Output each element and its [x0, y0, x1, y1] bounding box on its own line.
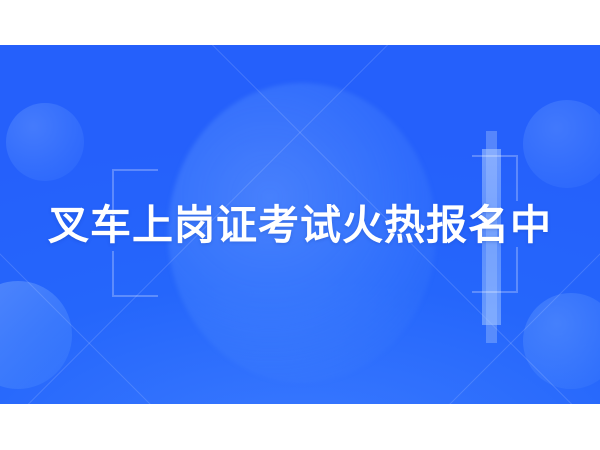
headline-container: 叉车上岗证考试火热报名中: [0, 45, 600, 404]
banner-page: 叉车上岗证考试火热报名中: [0, 0, 600, 450]
banner-headline: 叉车上岗证考试火热报名中: [48, 191, 552, 251]
promo-banner: 叉车上岗证考试火热报名中: [0, 45, 600, 404]
